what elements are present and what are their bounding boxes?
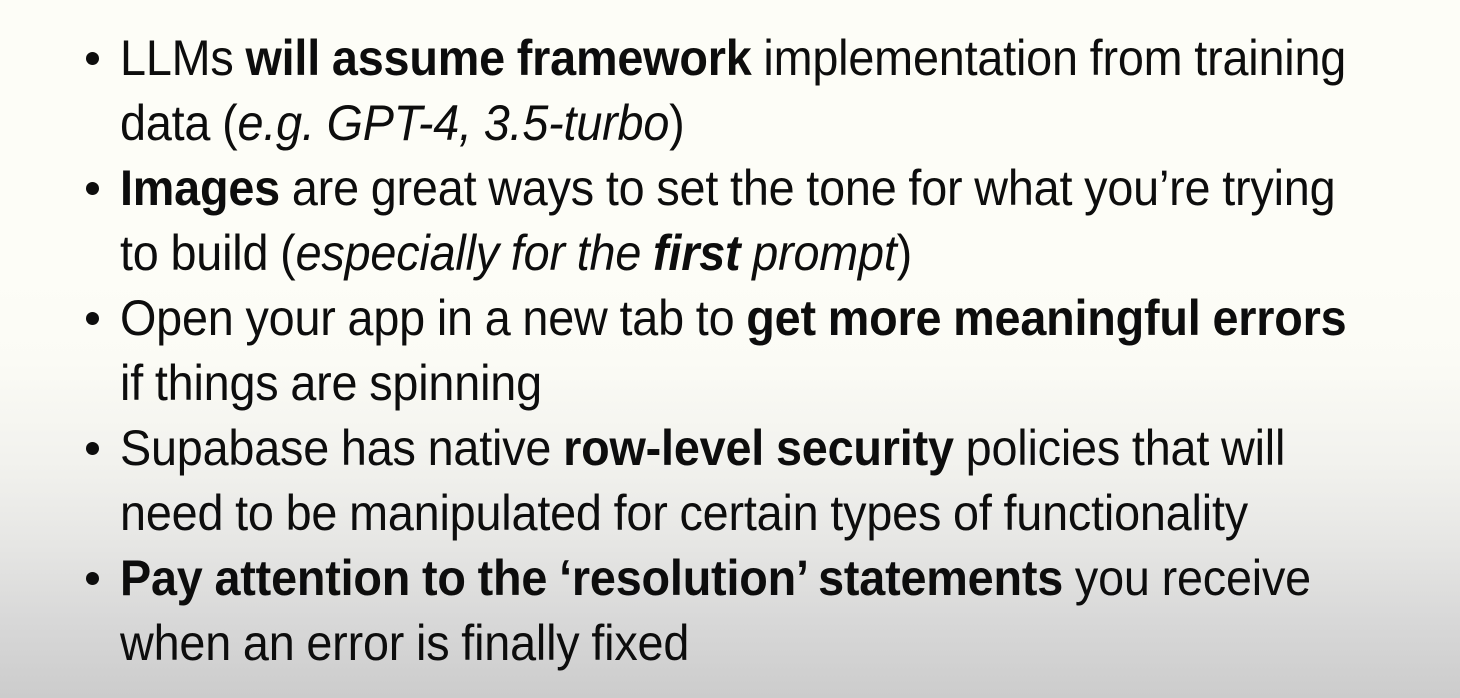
text-run: prompt [740, 225, 896, 281]
text-run: get more meaningful errors [746, 290, 1346, 346]
bullet-text: LLMs will assume framework implementatio… [120, 26, 1354, 156]
text-run: will assume framework [245, 30, 751, 86]
list-item: Images are great ways to set the tone fo… [20, 156, 1440, 286]
bullet-point-icon [86, 52, 99, 65]
text-run: ) [669, 95, 684, 151]
bullet-point-icon [86, 312, 99, 325]
bullet-text: Supabase has native row-level security p… [120, 416, 1354, 546]
text-run: especially for the [296, 225, 653, 281]
text-run: Open your app in a new tab to [120, 290, 746, 346]
list-item: Supabase has native row-level security p… [20, 416, 1440, 546]
bullet-text: Pay attention to the ‘resolution’ statem… [120, 546, 1354, 676]
list-item: Open your app in a new tab to get more m… [20, 286, 1440, 416]
bullet-point-icon [86, 572, 99, 585]
text-run: row-level security [563, 420, 954, 476]
bullet-text: Images are great ways to set the tone fo… [120, 156, 1354, 286]
text-run: Pay attention to the ‘resolution’ statem… [120, 550, 1063, 606]
bullet-point-icon [86, 442, 99, 455]
text-run: LLMs [120, 30, 245, 86]
list-item: LLMs will assume framework implementatio… [20, 26, 1440, 156]
bullet-text: Open your app in a new tab to get more m… [120, 286, 1354, 416]
text-run: if things are spinning [120, 355, 542, 411]
bullet-point-icon [86, 182, 99, 195]
list-item: Pay attention to the ‘resolution’ statem… [20, 546, 1440, 676]
text-run: e.g. GPT-4, 3.5-turbo [238, 95, 670, 151]
bullet-list: LLMs will assume framework implementatio… [20, 26, 1440, 676]
text-run: Supabase has native [120, 420, 563, 476]
slide-canvas: LLMs will assume framework implementatio… [0, 0, 1460, 698]
text-run: Images [120, 160, 280, 216]
text-run: ) [897, 225, 912, 281]
text-run: first [653, 225, 740, 281]
